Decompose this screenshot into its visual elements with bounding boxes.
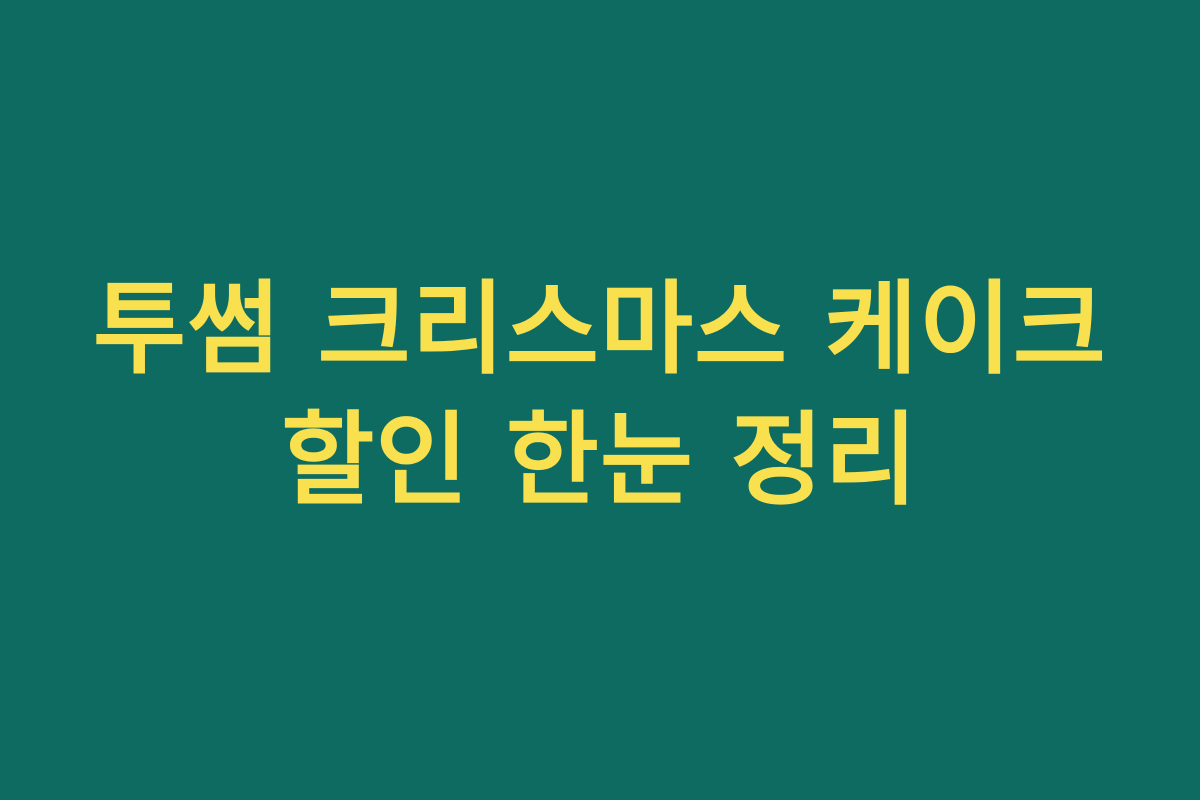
- title-line-2: 할인 한눈 정리: [0, 395, 1200, 526]
- title-line-1: 투썸 크리스마스 케이크: [0, 264, 1200, 395]
- banner-canvas: 투썸 크리스마스 케이크 할인 한눈 정리: [0, 0, 1200, 800]
- title-block: 투썸 크리스마스 케이크 할인 한눈 정리: [0, 264, 1200, 527]
